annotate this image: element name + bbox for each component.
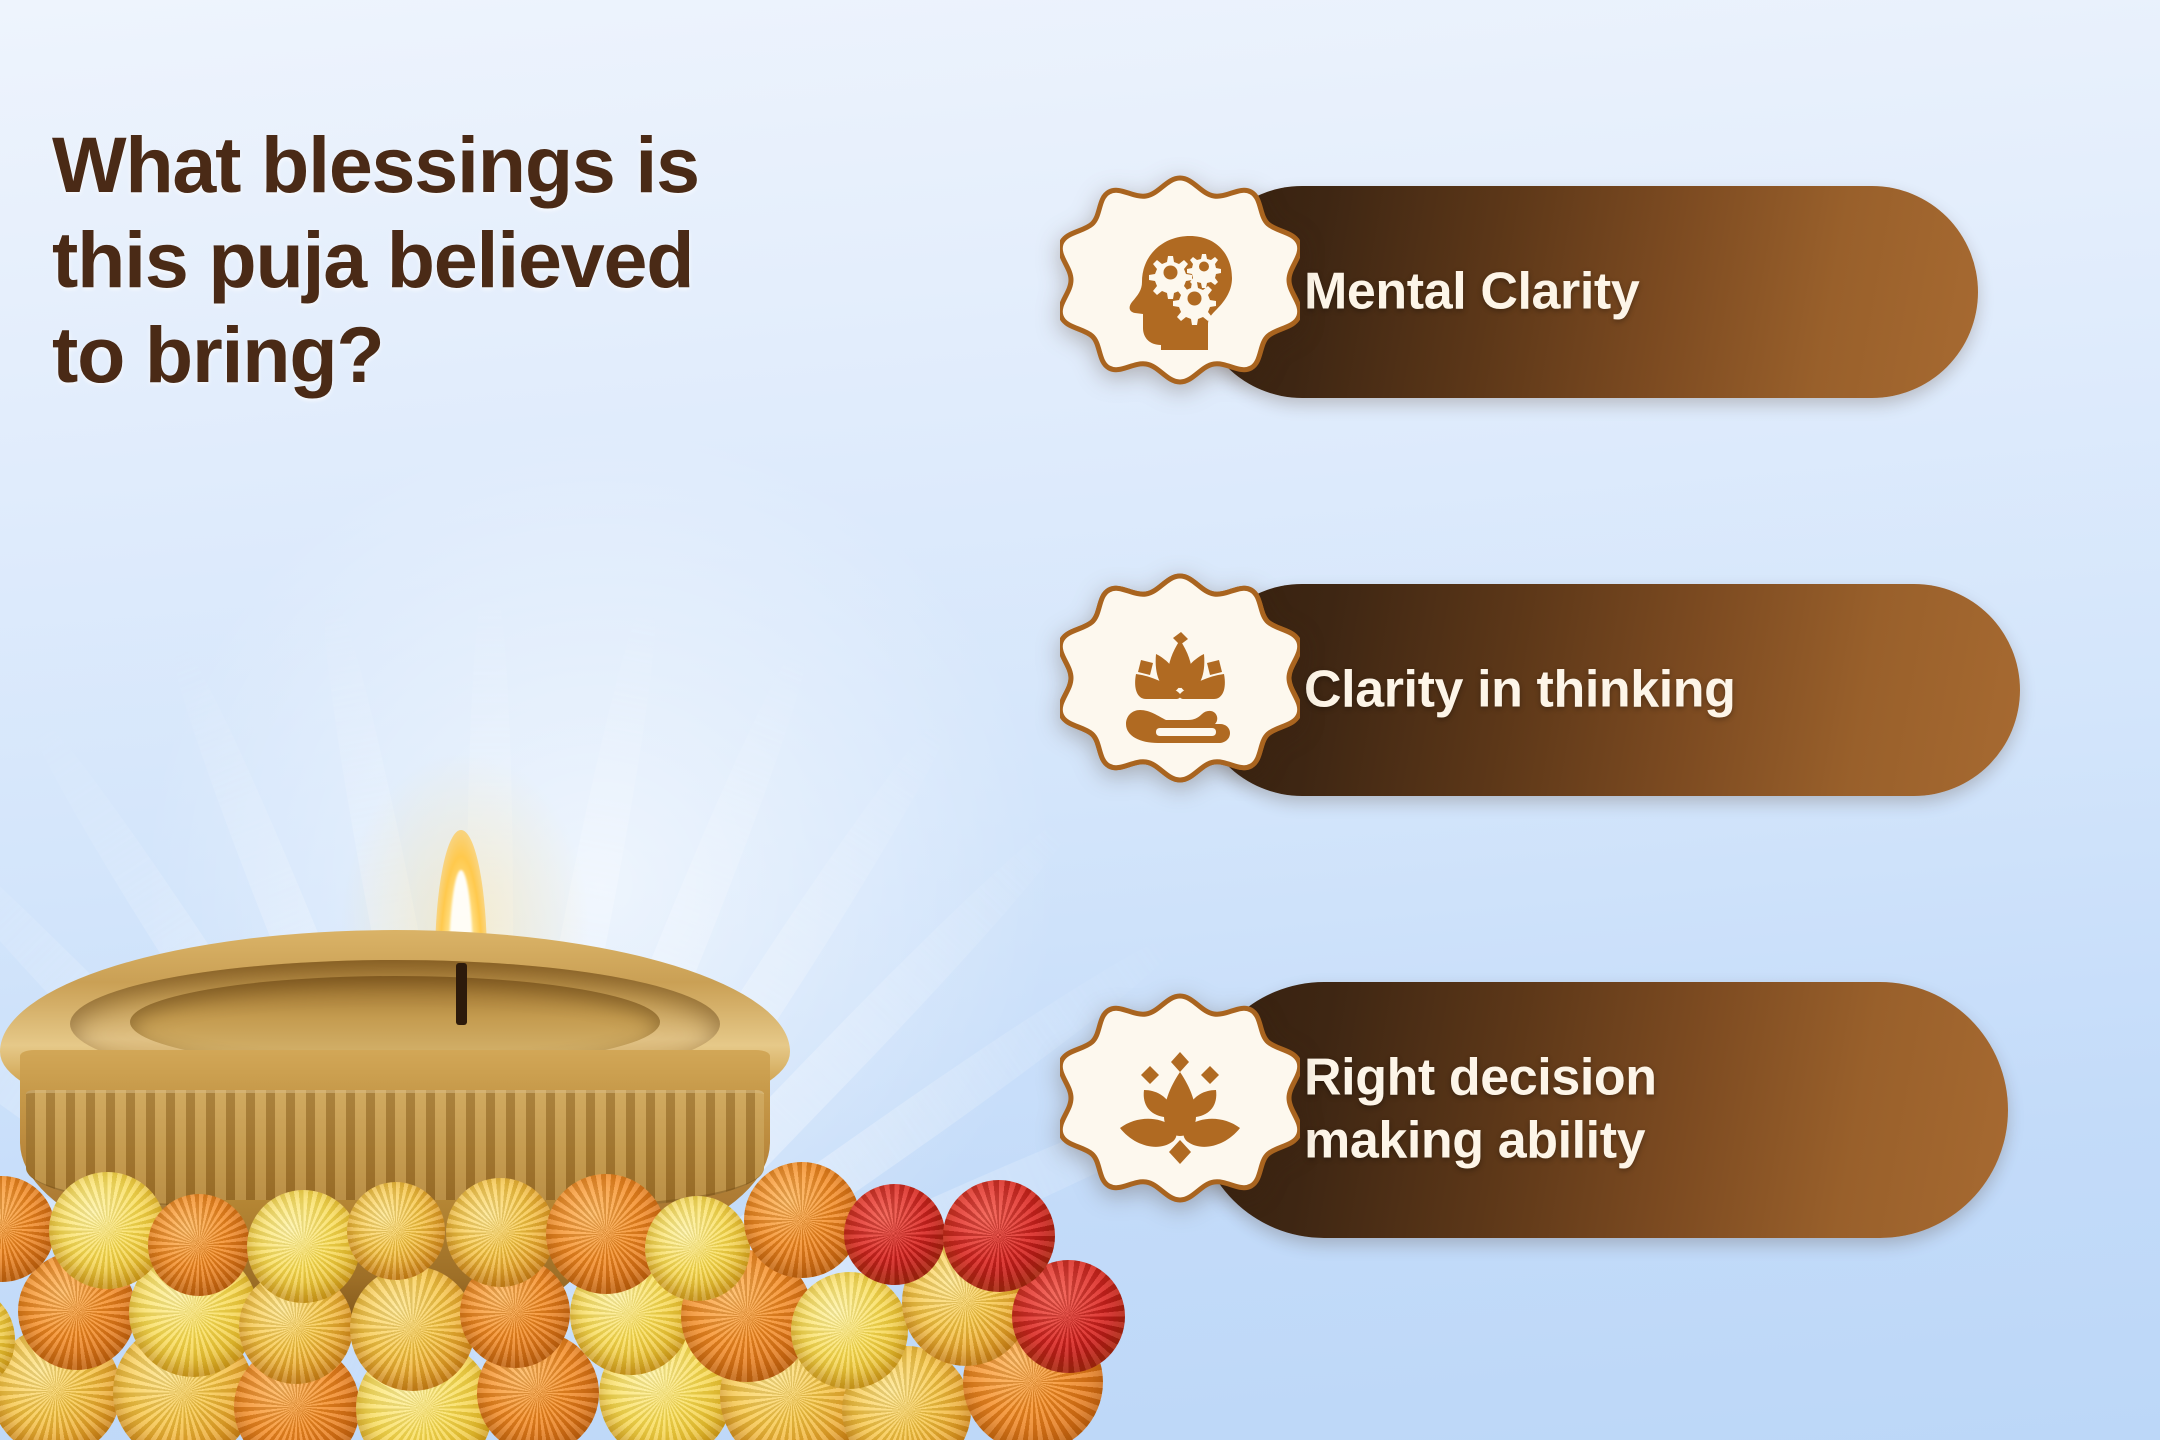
marigold-bloom (744, 1162, 860, 1278)
marigold-bloom (943, 1180, 1055, 1292)
page-title: What blessings is this puja believed to … (52, 118, 752, 402)
lotus-blossom-icon (1116, 1046, 1244, 1174)
marigold-bloom (791, 1272, 908, 1389)
infographic-canvas: What blessings is this puja believed to … (0, 0, 2160, 1440)
marigold-bloom (350, 1266, 475, 1391)
blessing-card-right-decision-making[interactable]: Right decision making ability (1060, 982, 2070, 1238)
diya-wick (456, 963, 467, 1025)
lotus-in-open-hand-icon (1116, 626, 1244, 754)
heading-line-2: this puja believed (52, 213, 752, 308)
marigold-bloom (49, 1172, 166, 1289)
head-with-gears-icon (1116, 228, 1244, 356)
blessing-label: Right decision making ability (1304, 1047, 1657, 1174)
blessing-label: Clarity in thinking (1304, 658, 1736, 721)
marigold-bloom (844, 1184, 945, 1285)
marigold-flower-bed (0, 1140, 1190, 1440)
marigold-bloom (148, 1194, 250, 1296)
badge-head-with-gears (1060, 172, 1300, 412)
blessing-card-mental-clarity[interactable]: Mental Clarity (1060, 186, 2070, 398)
heading-line-3: to bring? (52, 308, 752, 403)
blessing-label: Mental Clarity (1304, 260, 1639, 323)
badge-lotus-in-hand (1060, 570, 1300, 810)
marigold-bloom (347, 1182, 445, 1280)
marigold-bloom (247, 1190, 360, 1303)
marigold-bloom (446, 1178, 555, 1287)
diya-lamp-photo (0, 720, 1180, 1440)
marigold-bloom (645, 1196, 750, 1301)
blessing-card-clarity-in-thinking[interactable]: Clarity in thinking (1060, 584, 2070, 796)
blessings-list: Mental Clarity (1060, 0, 2160, 1440)
badge-lotus-blossom (1060, 990, 1300, 1230)
heading-line-1: What blessings is (52, 118, 752, 213)
